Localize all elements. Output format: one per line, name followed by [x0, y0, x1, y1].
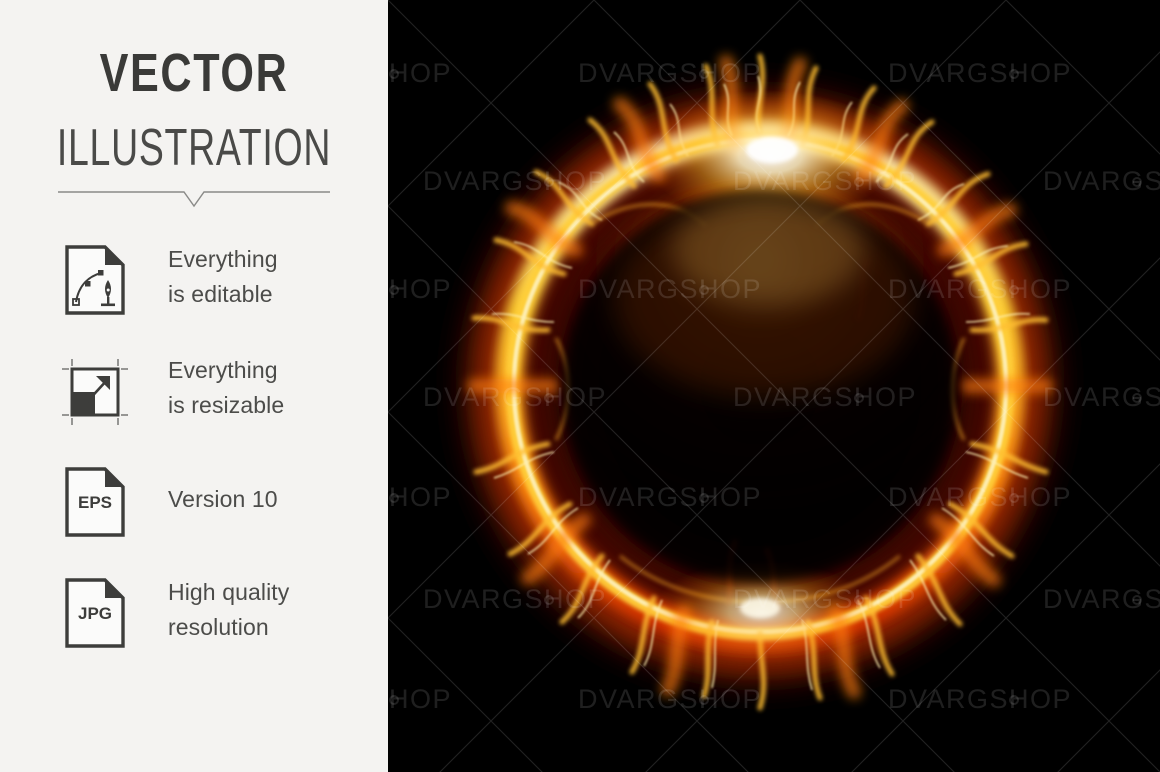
feature-label: High quality resolution — [168, 575, 289, 645]
jpg-badge-text: JPG — [78, 604, 112, 623]
artwork-canvas: DVARGSHOP — [388, 0, 1160, 772]
jpg-file-icon: JPG — [64, 577, 126, 649]
feature-label: Version 10 — [168, 482, 278, 517]
feature-list: Everything is editable — [0, 242, 388, 686]
feature-item-resolution: JPG High quality resolution — [0, 575, 388, 686]
divider — [58, 186, 330, 212]
resize-crop-arrow-icon — [60, 355, 130, 431]
feature-label: Everything is editable — [168, 242, 278, 312]
feature-label: Everything is resizable — [168, 353, 284, 423]
eps-badge-text: EPS — [78, 493, 112, 512]
burning-fire-ring-artwork — [388, 0, 1160, 772]
feature-item-editable: Everything is editable — [0, 242, 388, 353]
vector-pen-document-icon — [64, 244, 126, 316]
feature-item-version: EPS Version 10 — [0, 464, 388, 575]
page-subtitle: ILLUSTRATION — [54, 122, 333, 174]
info-panel: VECTOR ILLUSTRATION — [0, 0, 388, 772]
feature-item-resizable: Everything is resizable — [0, 353, 388, 464]
title-block: VECTOR ILLUSTRATION — [0, 46, 388, 174]
page-title: VECTOR — [39, 46, 349, 100]
illustration-preview-stage: VECTOR ILLUSTRATION — [0, 0, 1160, 772]
eps-file-icon: EPS — [64, 466, 126, 538]
